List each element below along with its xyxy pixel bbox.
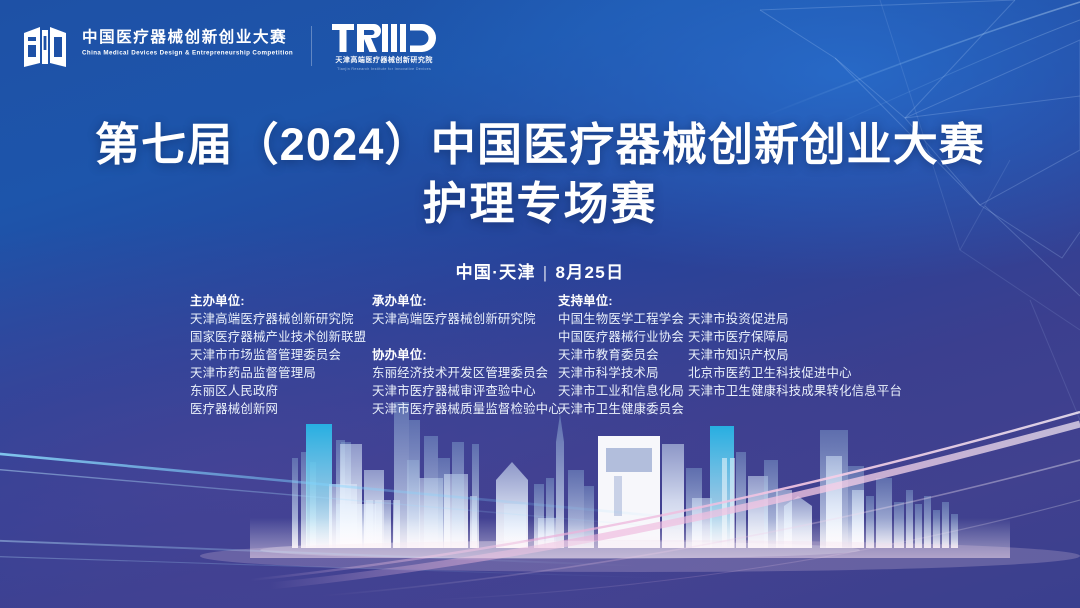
host-item: 国家医疗器械产业技术创新联盟 (190, 328, 372, 346)
coorganizer-item: 天津市医疗器械质量监督检验中心 (372, 400, 558, 418)
supporter-item: 中国医疗器械行业协会 (558, 328, 688, 346)
supporter-item: 天津市投资促进局 (688, 310, 902, 328)
subtitle-divider: | (543, 263, 549, 283)
host-heading: 主办单位: (190, 292, 372, 310)
institute-logo: 天津高端医疗器械创新研究院 Tianjin Research Institute… (332, 24, 436, 71)
organizer-columns: 主办单位: 天津高端医疗器械创新研究院 国家医疗器械产业技术创新联盟 天津市市场… (190, 292, 902, 418)
event-location: 中国·天津 (456, 263, 536, 282)
coorganizer-item: 天津市医疗器械审评查验中心 (372, 382, 558, 400)
supporter-item: 天津市卫生健康委员会 (558, 400, 688, 418)
supporter-item: 北京市医药卫生科技促进中心 (688, 364, 902, 382)
poster-title: 第七届（2024）中国医疗器械创新创业大赛 护理专场赛 (0, 118, 1080, 230)
supporter-item: 天津市教育委员会 (558, 346, 688, 364)
title-line-2: 护理专场赛 (0, 177, 1080, 230)
supporter-subcolumn-spacer (688, 292, 902, 310)
supporter-item: 天津市知识产权局 (688, 346, 902, 364)
title-line-1: 第七届（2024）中国医疗器械创新创业大赛 (0, 118, 1080, 171)
host-item: 天津市药品监督管理局 (190, 364, 372, 382)
supporter-item: 天津市科学技术局 (558, 364, 688, 382)
supporter-item: 中国生物医学工程学会 (558, 310, 688, 328)
supporter-subcolumn-a: 支持单位: 中国生物医学工程学会 中国医疗器械行业协会 天津市教育委员会 天津市… (558, 292, 688, 418)
organizer-column: 承办单位: 天津高端医疗器械创新研究院 协办单位: 东丽经济技术开发区管理委员会… (372, 292, 558, 418)
poster-background: 中国医疗器械创新创业大赛 China Medical Devices Desig… (0, 0, 1080, 608)
coorganizer-heading: 协办单位: (372, 346, 558, 364)
competition-logo-text: 中国医疗器械创新创业大赛 China Medical Devices Desig… (82, 28, 293, 58)
header-logos: 中国医疗器械创新创业大赛 China Medical Devices Desig… (22, 22, 436, 71)
column-spacer (372, 328, 558, 346)
supporter-item: 天津市卫生健康科技成果转化信息平台 (688, 382, 902, 400)
supporter-column: 支持单位: 中国生物医学工程学会 中国医疗器械行业协会 天津市教育委员会 天津市… (558, 292, 902, 418)
competition-logo-cn: 中国医疗器械创新创业大赛 (82, 28, 293, 47)
coorganizer-item: 东丽经济技术开发区管理委员会 (372, 364, 558, 382)
host-item: 医疗器械创新网 (190, 400, 372, 418)
competition-logo-icon (22, 24, 68, 70)
organizer-item: 天津高端医疗器械创新研究院 (372, 310, 558, 328)
host-item: 东丽区人民政府 (190, 382, 372, 400)
host-item: 天津高端医疗器械创新研究院 (190, 310, 372, 328)
supporter-item: 天津市医疗保障局 (688, 328, 902, 346)
supporter-item: 天津市工业和信息化局 (558, 382, 688, 400)
event-subtitle: 中国·天津|8月25日 (0, 258, 1080, 283)
host-column: 主办单位: 天津高端医疗器械创新研究院 国家医疗器械产业技术创新联盟 天津市市场… (190, 292, 372, 418)
competition-logo-en: China Medical Devices Design & Entrepren… (82, 48, 293, 58)
host-item: 天津市市场监督管理委员会 (190, 346, 372, 364)
triid-wordmark-icon (332, 24, 436, 52)
supporter-heading: 支持单位: (558, 292, 688, 310)
institute-name-cn: 天津高端医疗器械创新研究院 (335, 55, 433, 65)
supporter-subcolumn-b: 天津市投资促进局 天津市医疗保障局 天津市知识产权局 北京市医药卫生科技促进中心… (688, 292, 902, 418)
event-date: 8月25日 (556, 263, 625, 282)
logo-divider (311, 26, 312, 66)
organizer-heading: 承办单位: (372, 292, 558, 310)
institute-name-en: Tianjin Research Institute for Innovativ… (337, 67, 431, 71)
